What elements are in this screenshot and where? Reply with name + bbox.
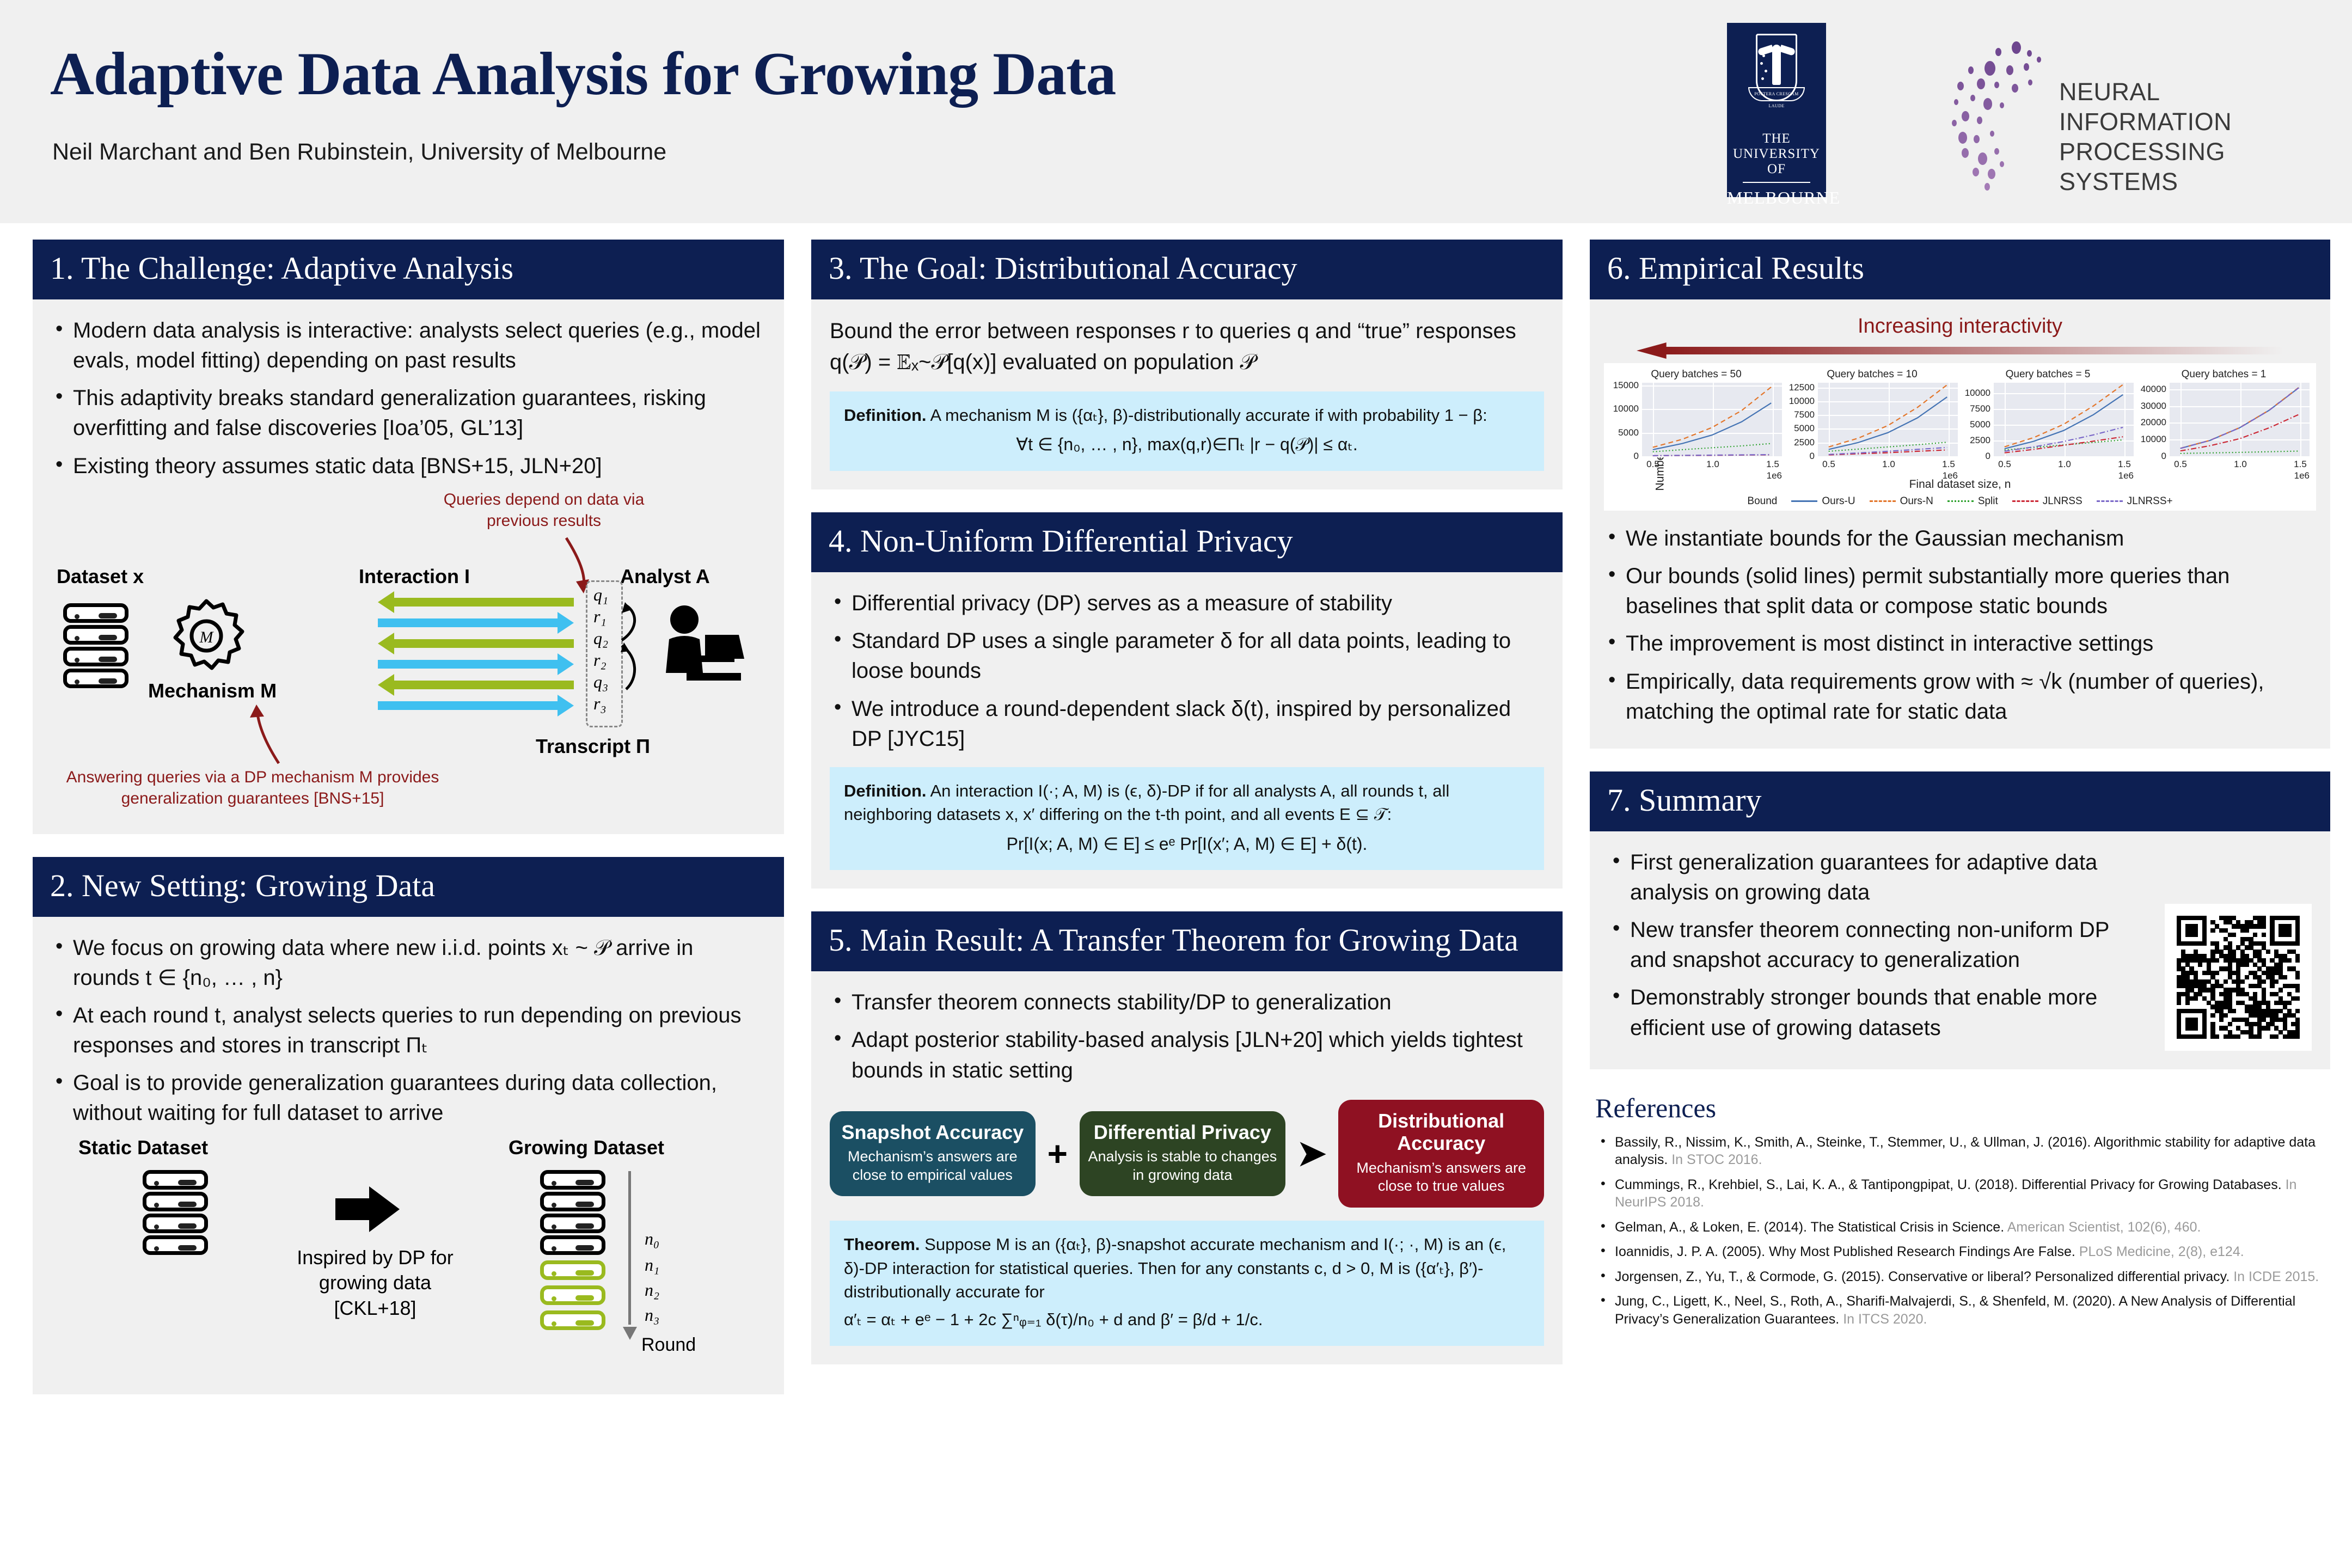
diagram-annotation-bottom: Answering queries via a DP mechanism M p… — [51, 767, 454, 809]
definition-box-non-uniform-dp: Definition. An interaction I(·; A, M) is… — [830, 767, 1544, 871]
qr-module — [2215, 971, 2219, 975]
chart-x-exponent: 1e6 — [2118, 470, 2134, 481]
chart-x-exponent: 1e6 — [1767, 470, 1782, 481]
analyst-person-icon — [653, 603, 762, 712]
chart-legend-swatch — [1870, 500, 1896, 502]
flow-box-title: Distributional Accuracy — [1346, 1110, 1536, 1155]
qr-module — [2245, 975, 2249, 979]
qr-module — [2295, 941, 2300, 946]
svg-text:M: M — [199, 628, 215, 646]
diagram-annotation-top: Queries depend on data via previous resu… — [427, 489, 661, 531]
qr-module — [2262, 979, 2266, 984]
poster-header: Adaptive Data Analysis for Growing Data … — [0, 0, 2352, 223]
chart-y-tick: 0 — [1810, 451, 1815, 462]
list-item: Goal is to provide generalization guaran… — [51, 1068, 765, 1128]
flow-box-distributional-accuracy: Distributional Accuracy Mechanism’s answ… — [1338, 1100, 1544, 1208]
neurips-dot — [1962, 111, 1969, 121]
neurips-logo: NEURAL INFORMATION PROCESSING SYSTEMS — [1930, 32, 2306, 184]
qr-module — [2295, 988, 2300, 992]
qr-module — [2295, 996, 2300, 1001]
neurips-dot — [1977, 78, 1985, 89]
chart-x-tick: 0.5 — [1646, 459, 1659, 470]
neurips-dot — [1974, 135, 1980, 143]
chart-line-ours-u — [2180, 388, 2299, 448]
panel-section-3: 3. The Goal: Distributional Accuracy Bou… — [811, 240, 1563, 489]
neurips-dot — [1994, 82, 1999, 88]
chart-legend-item: JLNRSS — [2012, 495, 2082, 507]
chart-y-tick: 15000 — [1613, 380, 1639, 391]
chart-x-tick: 1.0 — [2058, 459, 2071, 470]
definition-text: An interaction I(·; A, M) is (ϵ, δ)-DP i… — [844, 781, 1449, 824]
flow-box-subtitle: Analysis is stable to changes in growing… — [1087, 1148, 1278, 1185]
label-dataset: Dataset x — [57, 565, 144, 588]
reference-text: Jung, C., Ligett, K., Neel, S., Roth, A.… — [1615, 1294, 2295, 1327]
uom-crest-icon: POSTERA CRESCAM LAUDE — [1744, 30, 1809, 126]
panel-section-2: 2. New Setting: Growing Data We focus on… — [33, 857, 784, 1394]
qr-module — [2262, 933, 2266, 937]
theorem-equation: α′ₜ = αₜ + eᵉ − 1 + 2c ∑ⁿᵩ₌₁ δ(τ)/n₀ + d… — [844, 1308, 1530, 1331]
neurips-dot — [1978, 152, 1987, 165]
column-middle: 3. The Goal: Distributional Accuracy Bou… — [811, 240, 1563, 1387]
neurips-dot — [1994, 148, 1999, 155]
neurips-dot — [2037, 57, 2041, 63]
section-1-heading: 1. The Challenge: Adaptive Analysis — [33, 240, 784, 299]
neurips-line1: NEURAL INFORMATION — [2059, 77, 2306, 137]
round-label: n₃ — [645, 1305, 659, 1325]
chart-line-ours-n — [2180, 387, 2299, 448]
chart-legend-label: JLNRSS+ — [2127, 495, 2173, 507]
chart-y-tick: 10000 — [1789, 396, 1815, 407]
reference-item: Jorgensen, Z., Yu, T., & Cormode, G. (20… — [1595, 1268, 2325, 1286]
neurips-dot — [2012, 41, 2021, 54]
chart-series-layer — [1994, 383, 2134, 456]
qr-module — [2262, 924, 2266, 928]
chart-y-tick: 5000 — [1970, 419, 1990, 430]
chart-legend-swatch — [2012, 500, 2038, 502]
list-item: The improvement is most distinct in inte… — [1604, 629, 2316, 659]
neurips-dot — [2006, 65, 2013, 75]
label-mechanism: Mechanism M — [148, 679, 277, 702]
chart-panel: Query batches = 50250050007500100000.51.… — [1960, 369, 2136, 456]
qr-module — [2232, 1009, 2236, 1013]
feedback-loop-icon — [615, 597, 648, 700]
page-title: Adaptive Data Analysis for Growing Data — [50, 39, 1116, 109]
label-growing-dataset: Growing Dataset — [509, 1136, 664, 1159]
chart-legend-label: JLNRSS — [2043, 495, 2082, 507]
flow-box-subtitle: Mechanism’s answers are close to true va… — [1346, 1159, 1536, 1196]
qr-module — [2210, 1013, 2215, 1018]
qr-module — [2215, 1034, 2219, 1039]
chart-legend-label: Ours-N — [1900, 495, 1933, 507]
section-3-heading: 3. The Goal: Distributional Accuracy — [811, 240, 1563, 299]
qr-module — [2194, 1026, 2198, 1030]
uom-divider — [1743, 182, 1810, 183]
list-item: At each round t, analyst selects queries… — [51, 1001, 765, 1061]
neurips-dot — [1988, 169, 1995, 179]
chart-legend-item: Split — [1947, 495, 1998, 507]
neurips-line2: PROCESSING SYSTEMS — [2059, 137, 2306, 197]
chart-panel-title: Query batches = 50 — [1608, 369, 1784, 381]
list-item: Demonstrably stronger bounds that enable… — [1608, 983, 2151, 1043]
chart-panel: Query batches = 10100002000030000400000.… — [2136, 369, 2312, 456]
plus-icon: + — [1048, 1134, 1068, 1174]
panel-section-6: 6. Empirical Results Increasing interact… — [1590, 240, 2330, 749]
chart-line-jlnrss — [2180, 414, 2299, 451]
chart-x-exponent: 1e6 — [2294, 470, 2310, 481]
transcript-item: r₂ — [593, 650, 607, 670]
transfer-theorem-flow: Snapshot Accuracy Mechanism’s answers ar… — [830, 1100, 1544, 1208]
qr-module — [2228, 1022, 2232, 1026]
qr-module — [2245, 928, 2249, 933]
qr-module — [2295, 1034, 2300, 1039]
neurips-dot — [2024, 63, 2029, 71]
chart-panel-title: Query batches = 10 — [1784, 369, 1960, 381]
round-axis-line — [628, 1171, 631, 1325]
qr-module — [2274, 1034, 2278, 1039]
reference-venue: In ICDE 2015. — [2233, 1269, 2319, 1284]
growing-data-diagram: Static Dataset Inspired by DP for growin… — [51, 1136, 765, 1376]
chart-legend-title: Bound — [1747, 495, 1777, 507]
section-2-bullets: We focus on growing data where new i.i.d… — [51, 933, 765, 1129]
implies-arrow-icon: ➤ — [1297, 1133, 1327, 1174]
flow-box-title: Differential Privacy — [1087, 1121, 1278, 1143]
chart-x-exponent: 1e6 — [1943, 470, 1958, 481]
transform-arrow-icon — [334, 1184, 405, 1234]
neurips-dot — [1952, 120, 1957, 126]
round-label: n₂ — [645, 1280, 659, 1300]
increasing-interactivity-arrow-icon — [1637, 341, 2283, 360]
qr-code[interactable] — [2165, 904, 2312, 1051]
qr-module — [2185, 1001, 2190, 1005]
growing-dataset-icon — [540, 1170, 605, 1332]
neurips-dot — [1957, 82, 1964, 90]
chart-plot-area: 0250050007500100000.51.01.51e6 — [1994, 383, 2134, 456]
qr-code-image — [2177, 916, 2300, 1039]
gridline — [1642, 456, 1782, 457]
list-item: We focus on growing data where new i.i.d… — [51, 933, 765, 993]
qr-module — [2295, 958, 2300, 963]
chart-y-tick: 2500 — [1970, 435, 1990, 446]
static-dataset-icon — [143, 1170, 208, 1257]
reference-text: Ioannidis, J. P. A. (2005). Why Most Pub… — [1615, 1244, 2079, 1259]
qr-module — [2257, 1034, 2262, 1039]
qr-module — [2202, 1034, 2207, 1039]
round-axis-arrow-icon — [621, 1321, 639, 1341]
chart-plot-area: 0500010000150000.51.01.51e6 — [1642, 383, 1782, 456]
chart-x-tick: 1.5 — [2294, 459, 2307, 470]
list-item: This adaptivity breaks standard generali… — [51, 383, 765, 443]
neurips-dot — [1954, 99, 1958, 105]
neurips-dot — [2000, 102, 2004, 108]
chart-series-layer — [1818, 383, 1958, 456]
flow-box-title: Snapshot Accuracy — [837, 1121, 1028, 1143]
chart-line-split — [2180, 451, 2299, 453]
neurips-dot — [2012, 84, 2018, 93]
chart-x-tick: 1.5 — [1766, 459, 1779, 470]
chart-x-tick: 0.5 — [1822, 459, 1835, 470]
qr-module — [2266, 1026, 2270, 1030]
theorem-label: Theorem. — [844, 1235, 920, 1254]
qr-module — [2202, 941, 2207, 946]
definition-box-distributional-accuracy: Definition. A mechanism M is ({αₜ}, β)-d… — [830, 391, 1544, 471]
reference-venue: American Scientist, 102(6), 460. — [2007, 1220, 2201, 1235]
chart-y-tick: 2500 — [1794, 437, 1815, 448]
references-list: Bassily, R., Nissim, K., Smith, A., Stei… — [1595, 1134, 2325, 1328]
chart-line-jlnrss — [1829, 450, 1947, 455]
list-item: Differential privacy (DP) serves as a me… — [830, 589, 1544, 618]
chart-y-tick: 7500 — [1794, 409, 1815, 420]
theorem-box: Theorem. Suppose M is an ({αₜ}, β)-snaps… — [830, 1221, 1544, 1346]
qr-module — [2198, 963, 2202, 967]
section-2-heading: 2. New Setting: Growing Data — [33, 857, 784, 917]
chart-y-tick: 5000 — [1794, 423, 1815, 434]
qr-module — [2278, 988, 2283, 992]
chart-legend-swatch — [1947, 500, 1974, 502]
definition-equation: Pr[I(x; A, M) ∈ E] ≤ eᵉ Pr[I(x′; A, M) ∈… — [844, 832, 1530, 856]
neurips-dot — [2000, 161, 2004, 167]
chart-series-layer — [2170, 383, 2310, 456]
gridline — [1994, 456, 2134, 457]
definition-text: A mechanism M is ({αₜ}, β)-distributiona… — [930, 406, 1487, 425]
chart-plot-area: 025005000750010000125000.51.01.51e6 — [1818, 383, 1958, 456]
chart-line-ours-n — [1829, 385, 1947, 447]
chart-legend-swatch — [2097, 500, 2123, 502]
gridline — [1818, 456, 1958, 457]
chart-x-axis-label: Final dataset size, n — [1608, 478, 2312, 491]
references-section: References Bassily, R., Nissim, K., Smit… — [1590, 1092, 2330, 1328]
chart-line-jlnrss+ — [2180, 388, 2299, 448]
qr-module — [2194, 933, 2198, 937]
chart-y-tick: 0 — [2161, 451, 2166, 462]
list-item: Standard DP uses a single parameter δ fo… — [830, 626, 1544, 686]
qr-module — [2219, 1018, 2224, 1022]
neurips-dot — [1984, 61, 1995, 76]
chart-x-tick: 1.0 — [1706, 459, 1719, 470]
reference-item: Ioannidis, J. P. A. (2005). Why Most Pub… — [1595, 1243, 2325, 1261]
qr-module — [2232, 933, 2236, 937]
label-static-dataset: Static Dataset — [78, 1136, 208, 1159]
uom-logo-line2: MELBOURNE — [1727, 188, 1826, 208]
reference-item: Gelman, A., & Loken, E. (2014). The Stat… — [1595, 1218, 2325, 1236]
chart-legend-item: JLNRSS+ — [2097, 495, 2173, 507]
round-label: n₀ — [645, 1229, 659, 1249]
reference-text: Gelman, A., & Loken, E. (2014). The Stat… — [1615, 1220, 2007, 1235]
chart-legend-label: Ours-U — [1822, 495, 1855, 507]
panel-section-7: 7. Summary First generalization guarante… — [1590, 771, 2330, 1069]
chart-legend-swatch — [1791, 500, 1817, 502]
neurips-dot — [1973, 168, 1979, 176]
qr-module — [2177, 1001, 2181, 1005]
qr-module — [2295, 975, 2300, 979]
panel-section-4: 4. Non-Uniform Differential Privacy Diff… — [811, 512, 1563, 889]
label-analyst: Analyst A — [620, 565, 710, 588]
dataset-icon — [63, 603, 128, 690]
section-3-paragraph: Bound the error between responses r to q… — [830, 316, 1544, 378]
theorem-text: Suppose M is an ({αₜ}, β)-snapshot accur… — [844, 1235, 1506, 1301]
qr-module — [2215, 958, 2219, 963]
chart-legend: BoundOurs-UOurs-NSplitJLNRSSJLNRSS+ — [1608, 495, 2312, 507]
chart-y-tick: 7500 — [1970, 403, 1990, 414]
neurips-dot — [1995, 48, 2001, 56]
qr-module — [2283, 975, 2287, 979]
flow-box-differential-privacy: Differential Privacy Analysis is stable … — [1080, 1111, 1285, 1197]
qr-module — [2287, 958, 2292, 963]
chart-y-tick: 30000 — [2141, 401, 2166, 412]
definition-label: Definition. — [844, 406, 927, 425]
chart-y-tick: 40000 — [2141, 384, 2166, 395]
chart-y-tick: 10000 — [1965, 388, 1990, 399]
label-transcript: Transcript Π — [536, 735, 650, 758]
transcript-item: q₃ — [593, 672, 608, 692]
chart-y-tick: 20000 — [2141, 417, 2166, 428]
qr-module — [2266, 950, 2270, 954]
chart-panel: Query batches = 500500010000150000.51.01… — [1608, 369, 1784, 456]
neurips-dot — [1977, 117, 1982, 124]
transcript-item: r₁ — [593, 607, 607, 627]
list-item: We introduce a round-dependent slack δ(t… — [830, 694, 1544, 754]
qr-module — [2287, 933, 2292, 937]
section-6-heading: 6. Empirical Results — [1590, 240, 2330, 299]
panel-section-5: 5. Main Result: A Transfer Theorem for G… — [811, 911, 1563, 1364]
round-axis-label: Round — [641, 1334, 696, 1356]
mechanism-gear-icon: M — [168, 598, 244, 674]
qr-module — [2240, 979, 2245, 984]
annotation-arrow-up-icon — [231, 702, 291, 768]
round-label: n₁ — [645, 1255, 659, 1275]
qr-module — [2236, 1034, 2240, 1039]
chart-panel: Query batches = 100250050007500100001250… — [1784, 369, 1960, 456]
transcript-item: q₁ — [593, 585, 608, 605]
neurips-dot — [1983, 98, 1992, 110]
neurips-dot — [1968, 66, 1974, 74]
chart-y-tick: 10000 — [2141, 434, 2166, 445]
section-7-heading: 7. Summary — [1590, 771, 2330, 831]
list-item: Transfer theorem connects stability/DP t… — [830, 988, 1544, 1018]
uom-logo-line1: THE UNIVERSITY OF — [1727, 131, 1826, 177]
university-of-melbourne-logo: POSTERA CRESCAM LAUDE THE UNIVERSITY OF … — [1727, 23, 1826, 197]
interaction-diagram: Queries depend on data via previous resu… — [51, 489, 765, 816]
gridline — [2170, 456, 2310, 457]
chart-plot-area: 0100002000030000400000.51.01.51e6 — [2170, 383, 2310, 456]
list-item: Modern data analysis is interactive: ana… — [51, 316, 765, 376]
neurips-dot — [1970, 95, 1975, 101]
chart-y-tick: 12500 — [1789, 382, 1815, 393]
neurips-dot — [2028, 79, 2032, 85]
empirical-results-chart: Number of queries, k Query batches = 500… — [1604, 363, 2316, 511]
references-heading: References — [1595, 1092, 2325, 1124]
qr-module — [2287, 1001, 2292, 1005]
qr-module — [2270, 984, 2274, 988]
section-7-bullets: First generalization guarantees for adap… — [1608, 848, 2151, 1043]
definition-label: Definition. — [844, 781, 927, 800]
section-4-bullets: Differential privacy (DP) serves as a me… — [830, 589, 1544, 754]
chart-panel-title: Query batches = 1 — [2136, 369, 2312, 381]
chart-legend-item: Ours-U — [1791, 495, 1855, 507]
chart-line-split — [1653, 443, 1771, 451]
qr-module — [2274, 979, 2278, 984]
section-5-bullets: Transfer theorem connects stability/DP t… — [830, 988, 1544, 1086]
section-4-heading: 4. Non-Uniform Differential Privacy — [811, 512, 1563, 572]
chart-y-tick: 10000 — [1613, 403, 1639, 414]
chart-legend-item: Ours-N — [1870, 495, 1933, 507]
qr-module — [2194, 996, 2198, 1001]
chart-x-tick: 1.5 — [2118, 459, 2131, 470]
chart-legend-label: Split — [1978, 495, 1998, 507]
chart-series-layer — [1642, 383, 1782, 456]
reference-venue: In STOC 2016. — [1671, 1152, 1762, 1167]
neurips-dot — [1984, 183, 1990, 191]
reference-item: Bassily, R., Nissim, K., Smith, A., Stei… — [1595, 1134, 2325, 1169]
growing-data-caption: Inspired by DP for growing data [CKL+18] — [285, 1245, 465, 1321]
reference-text: Jorgensen, Z., Yu, T., & Cormode, G. (20… — [1615, 1269, 2233, 1284]
poster-authors: Neil Marchant and Ben Rubinstein, Univer… — [52, 139, 666, 166]
reference-venue: PLoS Medicine, 2(8), e124. — [2079, 1244, 2244, 1259]
list-item: Empirically, data requirements grow with… — [1604, 667, 2316, 727]
chart-y-tick: 0 — [1986, 451, 1990, 462]
transcript-item: q₂ — [593, 628, 608, 648]
chart-line-ours-n — [2005, 384, 2123, 446]
list-item: Existing theory assumes static data [BNS… — [51, 451, 765, 481]
qr-module — [2224, 1013, 2228, 1018]
list-item: New transfer theorem connecting non-unif… — [1608, 915, 2151, 975]
chart-x-tick: 1.5 — [1942, 459, 1955, 470]
column-left: 1. The Challenge: Adaptive Analysis Mode… — [33, 240, 784, 1417]
flow-box-snapshot-accuracy: Snapshot Accuracy Mechanism’s answers ar… — [830, 1111, 1036, 1197]
list-item: We instantiate bounds for the Gaussian m… — [1604, 524, 2316, 554]
chart-y-tick: 5000 — [1618, 427, 1639, 438]
chart-x-tick: 1.0 — [2234, 459, 2247, 470]
reference-item: Jung, C., Ligett, K., Neel, S., Roth, A.… — [1595, 1293, 2325, 1328]
chart-panels: Query batches = 500500010000150000.51.01… — [1608, 369, 2312, 456]
definition-equation: ∀t ∈ {n₀, … , n}, max(q,r)∈Πₜ |r − q(𝒫)|… — [844, 432, 1530, 457]
chart-panel-title: Query batches = 5 — [1960, 369, 2136, 381]
qr-module — [2253, 933, 2257, 937]
qr-module — [2295, 1009, 2300, 1013]
reference-venue: In ITCS 2020. — [1843, 1312, 1927, 1327]
qr-module — [2210, 928, 2215, 933]
chart-x-tick: 1.0 — [1882, 459, 1895, 470]
neurips-dot — [1958, 132, 1967, 144]
chart-x-tick: 0.5 — [2174, 459, 2187, 470]
section-5-heading: 5. Main Result: A Transfer Theorem for G… — [811, 911, 1563, 971]
list-item: First generalization guarantees for adap… — [1608, 848, 2151, 908]
chart-y-tick: 0 — [1634, 451, 1639, 462]
section-1-bullets: Modern data analysis is interactive: ana… — [51, 316, 765, 481]
neurips-dot — [1990, 131, 1994, 137]
chart-line-split — [1829, 442, 1947, 451]
flow-box-subtitle: Mechanism’s answers are close to empiric… — [837, 1148, 1028, 1185]
uom-motto: POSTERA CRESCAM LAUDE — [1748, 87, 1805, 101]
neurips-logo-text: NEURAL INFORMATION PROCESSING SYSTEMS — [2059, 77, 2306, 197]
chart-x-tick: 0.5 — [1998, 459, 2011, 470]
transcript-item: r₃ — [593, 694, 607, 714]
chart-annotation: Increasing interactivity — [1604, 315, 2316, 338]
chart-line-ours-n — [1653, 387, 1771, 448]
neurips-dot — [1962, 148, 1969, 158]
panel-section-1: 1. The Challenge: Adaptive Analysis Mode… — [33, 240, 784, 834]
qr-module — [2245, 963, 2249, 967]
section-6-bullets: We instantiate bounds for the Gaussian m… — [1604, 524, 2316, 727]
list-item: Adapt posterior stability-based analysis… — [830, 1025, 1544, 1085]
reference-text: Cummings, R., Krehbiel, S., Lai, K. A., … — [1615, 1177, 2286, 1192]
label-interaction: Interaction I — [359, 565, 470, 588]
reference-item: Cummings, R., Krehbiel, S., Lai, K. A., … — [1595, 1176, 2325, 1211]
column-right: 6. Empirical Results Increasing interact… — [1590, 240, 2330, 1335]
list-item: Our bounds (solid lines) permit substant… — [1604, 561, 2316, 621]
neurips-dot — [2027, 50, 2032, 57]
qr-module — [2224, 979, 2228, 984]
